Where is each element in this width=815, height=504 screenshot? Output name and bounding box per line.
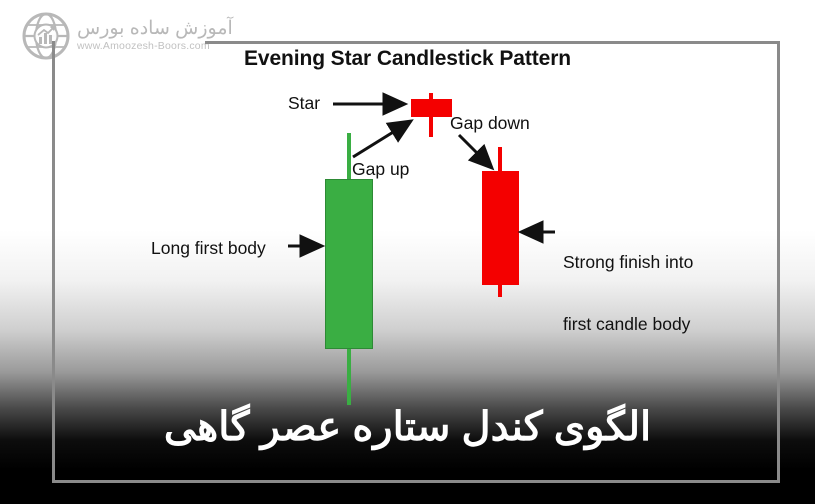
annotation-gap-down-label: Gap down (450, 113, 530, 134)
candle-third-body (482, 171, 519, 285)
chart-title: Evening Star Candlestick Pattern (0, 47, 815, 71)
annotation-strong-finish-label: Strong finish into first candle body (563, 211, 693, 376)
headline-fa: الگوی کندل ستاره عصر گاهی (0, 404, 815, 450)
infographic-canvas: آموزش ساده بورس www.Amoozesh-Boors.com E… (0, 0, 815, 504)
candle-first-body (325, 179, 373, 349)
annotation-strong-finish-line2: first candle body (563, 314, 693, 335)
arrow-gap-down (459, 135, 492, 168)
arrow-gap-up (353, 121, 411, 157)
annotation-strong-finish-line1: Strong finish into (563, 252, 693, 273)
brand-name-fa: آموزش ساده بورس (77, 19, 233, 40)
annotation-gap-up-label: Gap up (352, 159, 409, 180)
candle-star-body (411, 99, 452, 117)
annotation-star-label: Star (288, 93, 320, 114)
frame-top-border (205, 41, 780, 44)
frame-bottom-border (52, 480, 780, 483)
annotation-long-first-body-label: Long first body (151, 238, 266, 259)
